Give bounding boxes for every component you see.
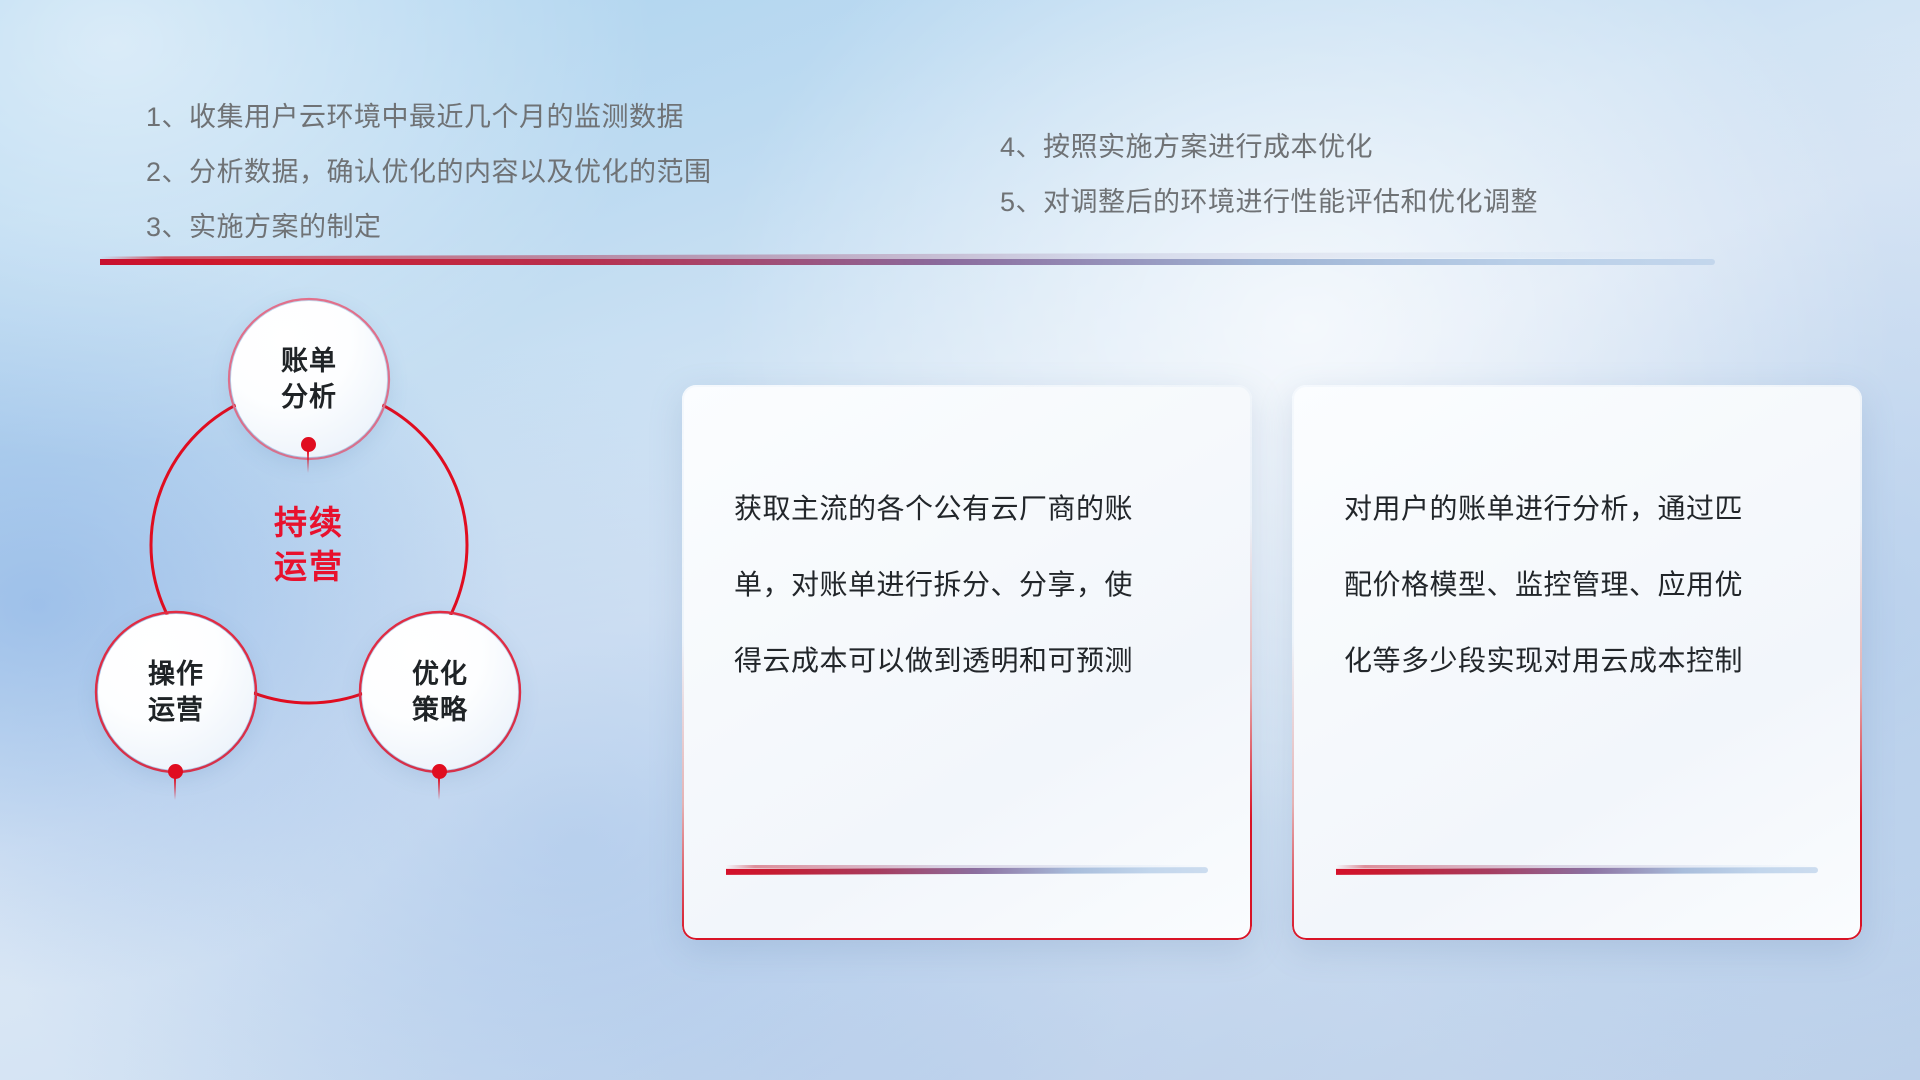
card-body-line: 得云成本可以做到透明和可预测: [734, 623, 1208, 699]
step-item: 4、按照实施方案进行成本优化: [1000, 120, 1538, 175]
card-body-line: 化等多少段实现对用云成本控制: [1344, 623, 1818, 699]
card-body-line: 获取主流的各个公有云厂商的账: [734, 471, 1208, 547]
venn-node-dot-top: [301, 437, 316, 452]
section-divider: [100, 254, 1715, 266]
slide-canvas: 1、收集用户云环境中最近几个月的监测数据 2、分析数据，确认优化的内容以及优化的…: [0, 0, 1920, 1080]
card-body-line: 配价格模型、监控管理、应用优: [1344, 547, 1818, 623]
steps-right-column: 4、按照实施方案进行成本优化 5、对调整后的环境进行性能评估和优化调整: [1000, 120, 1538, 230]
card-cloud-cost-optimization[interactable]: 对用户的账单进行分析，通过匹 配价格模型、监控管理、应用优 化等多少段实现对用云…: [1292, 385, 1862, 940]
venn-bubble-billing-analysis[interactable]: 账单分析: [231, 301, 387, 457]
divider-bar: [100, 259, 1715, 265]
card-divider-bar: [726, 867, 1208, 875]
card-body: 获取主流的各个公有云厂商的账 单，对账单进行拆分、分享，使 得云成本可以做到透明…: [734, 471, 1208, 699]
steps-left-column: 1、收集用户云环境中最近几个月的监测数据 2、分析数据，确认优化的内容以及优化的…: [146, 90, 712, 255]
card-divider: [1336, 865, 1818, 874]
step-item: 3、实施方案的制定: [146, 200, 712, 255]
step-item: 2、分析数据，确认优化的内容以及优化的范围: [146, 145, 712, 200]
card-body-line: 单，对账单进行拆分、分享，使: [734, 547, 1208, 623]
venn-bubble-label: 优化策略: [412, 656, 468, 728]
venn-bubble-label: 账单分析: [281, 343, 337, 415]
venn-bubble-operations[interactable]: 操作运营: [98, 614, 254, 770]
venn-node-dot-left: [168, 764, 183, 779]
card-body: 对用户的账单进行分析，通过匹 配价格模型、监控管理、应用优 化等多少段实现对用云…: [1344, 471, 1818, 699]
venn-node-tail-left: [174, 778, 176, 800]
venn-bubble-label: 操作运营: [148, 656, 204, 728]
venn-node-tail-top: [307, 451, 309, 473]
venn-bubble-optimization-strategy[interactable]: 优化策略: [362, 614, 518, 770]
venn-node-tail-right: [438, 778, 440, 800]
venn-diagram: 账单分析 操作运营 优化策略 持续运营: [80, 290, 600, 930]
step-item: 5、对调整后的环境进行性能评估和优化调整: [1000, 175, 1538, 230]
venn-node-dot-right: [432, 764, 447, 779]
card-body-line: 对用户的账单进行分析，通过匹: [1344, 471, 1818, 547]
card-divider-bar: [1336, 867, 1818, 875]
step-item: 1、收集用户云环境中最近几个月的监测数据: [146, 90, 712, 145]
card-divider: [726, 865, 1208, 874]
venn-center-label: 持续运营: [235, 480, 383, 610]
card-multicloud-billing-platform[interactable]: 获取主流的各个公有云厂商的账 单，对账单进行拆分、分享，使 得云成本可以做到透明…: [682, 385, 1252, 940]
